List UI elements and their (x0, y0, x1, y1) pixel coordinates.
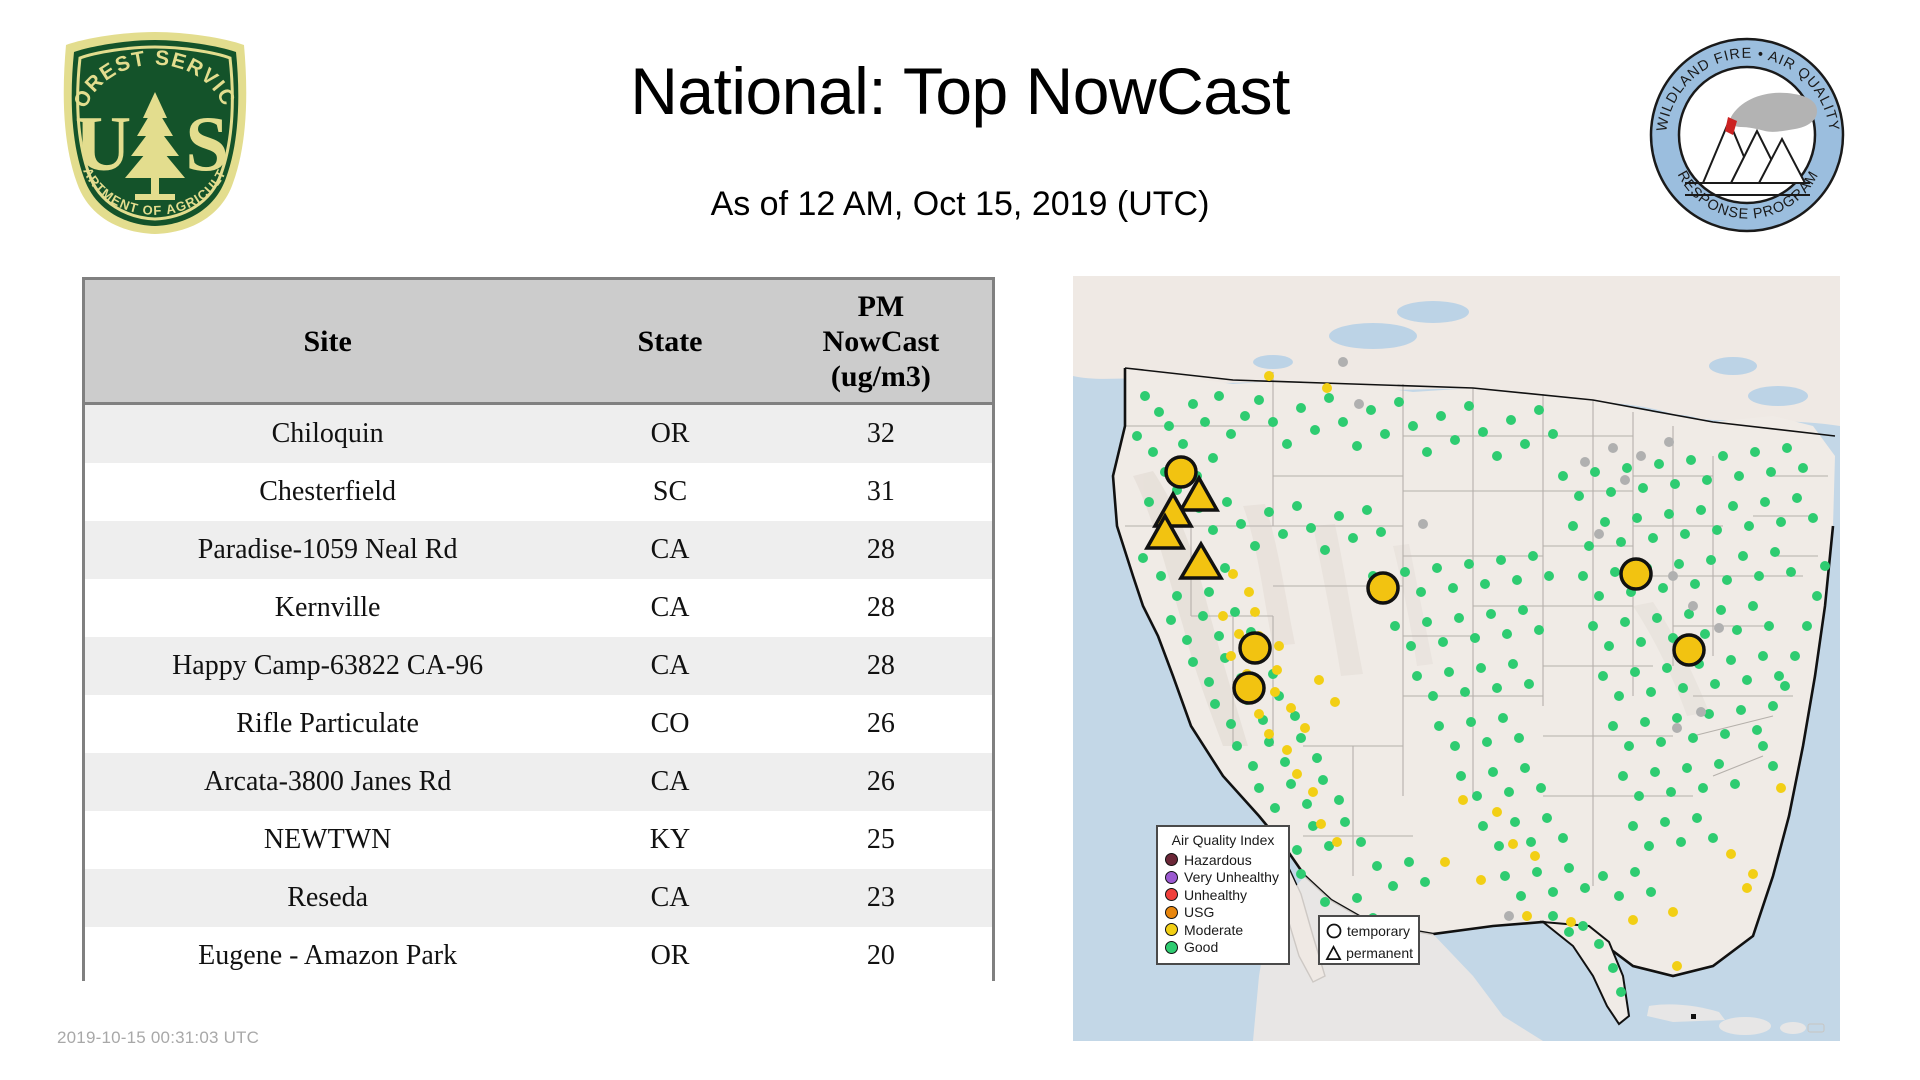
state-cell: CA (570, 579, 770, 637)
aqi-legend-item: USG (1165, 904, 1281, 922)
aqi-swatch-icon (1165, 853, 1178, 866)
caribbean-marker (1691, 1014, 1696, 1019)
highlight-marker-kernville (1240, 633, 1270, 663)
shape-legend-label-temporary: temporary (1347, 924, 1410, 938)
table-row[interactable]: ChiloquinOR32 (85, 404, 992, 464)
column-header-site[interactable]: Site (85, 280, 570, 404)
pm-nowcast-cell: 28 (770, 521, 992, 579)
state-cell: OR (570, 927, 770, 985)
site-cell: Arcata-3800 Janes Rd (85, 753, 570, 811)
page-subtitle: As of 12 AM, Oct 15, 2019 (UTC) (360, 185, 1560, 223)
column-header-pm-nowcast[interactable]: PM NowCast (ug/m3) (770, 280, 992, 404)
shape-legend-row-permanent: permanent (1325, 942, 1413, 964)
highlight-marker-chesterfield (1674, 635, 1704, 665)
site-cell: NEWTWN (85, 811, 570, 869)
site-cell: Happy Camp-63822 CA-96 (85, 637, 570, 695)
site-cell: Paradise-1059 Neal Rd (85, 521, 570, 579)
pm-nowcast-cell: 25 (770, 811, 992, 869)
highlight-marker-reseda (1234, 673, 1264, 703)
shape-legend: temporary permanent (1318, 915, 1420, 965)
aqi-swatch-icon (1165, 923, 1178, 936)
pm-nowcast-cell: 28 (770, 579, 992, 637)
pm-nowcast-cell: 20 (770, 927, 992, 985)
aqi-swatch-icon (1165, 871, 1178, 884)
state-cell: OR (570, 404, 770, 464)
page-title: National: Top NowCast (360, 55, 1560, 127)
table-row[interactable]: Happy Camp-63822 CA-96CA28 (85, 637, 992, 695)
temporary-circle-icon (1325, 922, 1343, 940)
aqi-legend-label: Hazardous (1184, 853, 1252, 867)
aqi-legend-item: Hazardous (1165, 851, 1281, 869)
aqi-legend-item: Unhealthy (1165, 886, 1281, 904)
table-row[interactable]: Paradise-1059 Neal RdCA28 (85, 521, 992, 579)
pm-nowcast-cell: 26 (770, 695, 992, 753)
table-row[interactable]: NEWTWNKY25 (85, 811, 992, 869)
aqi-legend-label: Moderate (1184, 923, 1243, 937)
column-header-pm-line3: (ug/m3) (776, 359, 986, 394)
state-cell: KY (570, 811, 770, 869)
permanent-triangle-icon (1325, 944, 1342, 962)
highlight-marker-newtwn (1621, 559, 1651, 589)
table-row[interactable]: Eugene - Amazon ParkOR20 (85, 927, 992, 985)
map-panel[interactable]: Air Quality Index HazardousVery Unhealth… (1073, 276, 1840, 1041)
aqi-legend-item: Very Unhealthy (1165, 869, 1281, 887)
column-header-state[interactable]: State (570, 280, 770, 404)
table-row[interactable]: ChesterfieldSC31 (85, 463, 992, 521)
pm-nowcast-cell: 26 (770, 753, 992, 811)
state-cell: CA (570, 869, 770, 927)
table-header-row: Site State PM NowCast (ug/m3) (85, 280, 992, 404)
highlight-marker-chiloquin (1166, 457, 1196, 487)
shape-legend-row-temporary: temporary (1325, 920, 1413, 942)
state-cell: CA (570, 753, 770, 811)
aqi-legend-label: Good (1184, 940, 1218, 954)
table-row[interactable]: Arcata-3800 Janes RdCA26 (85, 753, 992, 811)
aqi-legend-title: Air Quality Index (1165, 832, 1281, 848)
aqi-swatch-icon (1165, 888, 1178, 901)
aqi-legend-rows: HazardousVery UnhealthyUnhealthyUSGModer… (1165, 851, 1281, 956)
table-row[interactable]: Rifle ParticulateCO26 (85, 695, 992, 753)
footer-timestamp: 2019-10-15 00:31:03 UTC (57, 1028, 259, 1048)
aqi-legend-label: Very Unhealthy (1184, 870, 1279, 884)
table-row[interactable]: KernvilleCA28 (85, 579, 992, 637)
aqi-legend-item: Good (1165, 939, 1281, 957)
aqi-swatch-icon (1165, 941, 1178, 954)
aqi-legend-label: Unhealthy (1184, 888, 1247, 902)
shape-legend-label-permanent: permanent (1346, 946, 1413, 960)
header-bar: FOREST SERVICE U S DEPARTMENT OF AGRICUL… (0, 0, 1920, 270)
table-body: ChiloquinOR32ChesterfieldSC31Paradise-10… (85, 404, 992, 986)
usda-forest-service-logo: FOREST SERVICE U S DEPARTMENT OF AGRICUL… (55, 30, 255, 235)
aqi-legend: Air Quality Index HazardousVery Unhealth… (1156, 825, 1290, 965)
site-cell: Rifle Particulate (85, 695, 570, 753)
table-row[interactable]: ResedaCA23 (85, 869, 992, 927)
pm-nowcast-cell: 28 (770, 637, 992, 695)
site-cell: Chesterfield (85, 463, 570, 521)
state-cell: CO (570, 695, 770, 753)
site-cell: Reseda (85, 869, 570, 927)
highlight-marker-rifle (1368, 573, 1398, 603)
pm-nowcast-cell: 31 (770, 463, 992, 521)
site-cell: Eugene - Amazon Park (85, 927, 570, 985)
site-cell: Chiloquin (85, 404, 570, 464)
top-nowcast-table: Site State PM NowCast (ug/m3) ChiloquinO… (85, 280, 992, 985)
wfaqrp-logo: WILDLAND FIRE • AIR QUALITY RESPONSE PRO… (1645, 35, 1850, 235)
aqi-legend-label: USG (1184, 905, 1214, 919)
top-nowcast-table-panel: Site State PM NowCast (ug/m3) ChiloquinO… (82, 277, 995, 981)
aqi-legend-item: Moderate (1165, 921, 1281, 939)
state-cell: SC (570, 463, 770, 521)
column-header-pm-line1: PM (776, 289, 986, 324)
pm-nowcast-cell: 32 (770, 404, 992, 464)
site-cell: Kernville (85, 579, 570, 637)
aqi-swatch-icon (1165, 906, 1178, 919)
pm-nowcast-cell: 23 (770, 869, 992, 927)
column-header-pm-line2: NowCast (776, 324, 986, 359)
state-cell: CA (570, 637, 770, 695)
state-cell: CA (570, 521, 770, 579)
